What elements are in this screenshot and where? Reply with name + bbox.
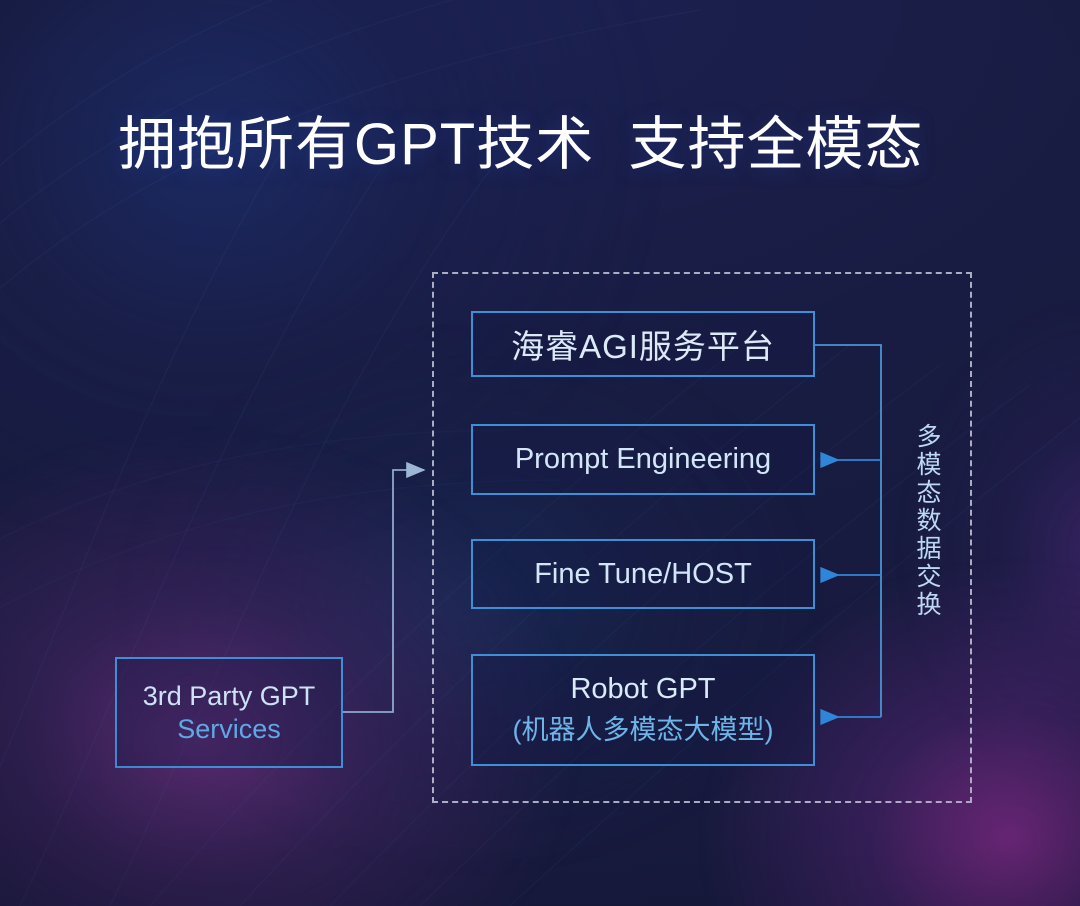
box-agi-platform[interactable]: 海睿AGI服务平台 xyxy=(471,311,815,377)
box-robot-gpt-sublabel: (机器人多模态大模型) xyxy=(513,708,774,747)
box-third-party-gpt[interactable]: 3rd Party GPT Services xyxy=(115,657,343,768)
box-third-party-gpt-label: 3rd Party GPT xyxy=(143,681,316,712)
box-fine-tune-host-label: Fine Tune/HOST xyxy=(534,558,752,591)
multimodal-exchange-label: 多模态数据交换 xyxy=(912,423,946,619)
page-title: 拥抱所有GPT技术 支持全模态 xyxy=(118,112,923,179)
box-robot-gpt[interactable]: Robot GPT (机器人多模态大模型) xyxy=(471,654,815,766)
box-prompt-engineering-label: Prompt Engineering xyxy=(515,443,771,476)
box-agi-platform-label: 海睿AGI服务平台 xyxy=(511,320,775,368)
slide-canvas: 拥抱所有GPT技术 支持全模态 海睿AGI服务平台 Prom xyxy=(0,0,1080,906)
box-prompt-engineering[interactable]: Prompt Engineering xyxy=(471,424,815,495)
box-third-party-gpt-sublabel: Services xyxy=(177,714,281,745)
box-fine-tune-host[interactable]: Fine Tune/HOST xyxy=(471,539,815,609)
box-robot-gpt-label: Robot GPT xyxy=(570,673,715,706)
